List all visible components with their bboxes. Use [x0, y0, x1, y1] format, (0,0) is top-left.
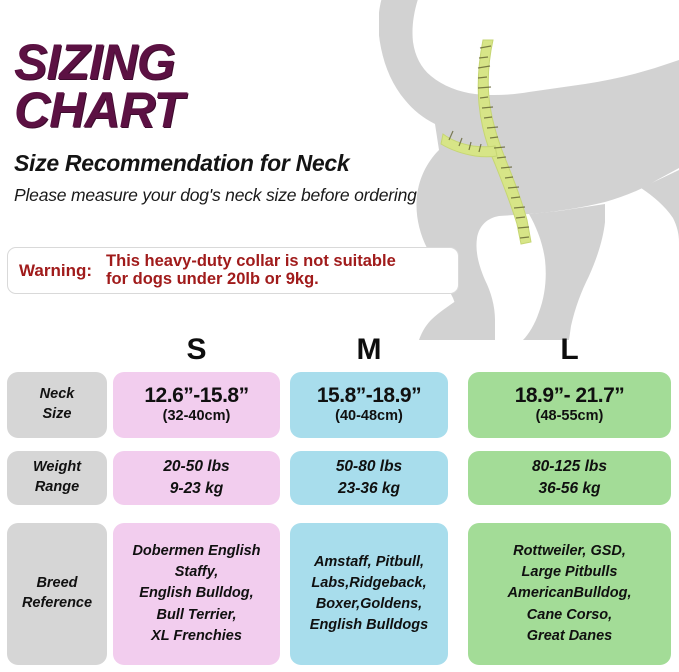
size-header-s: S — [113, 333, 280, 367]
breed-line: Cane Corso, — [527, 605, 612, 626]
cell-weight-range-m: 50-80 lbs 23-36 kg — [290, 451, 448, 505]
cell-breed-reference-m: Amstaff, Pitbull, Labs,Ridgeback, Boxer,… — [290, 523, 448, 665]
subtitle: Size Recommendation for Neck — [14, 150, 417, 177]
breed-line: English Bulldogs — [310, 615, 428, 636]
cell-breed-reference-l: Rottweiler, GSD, Large Pitbulls American… — [468, 523, 671, 665]
row-label-line-2: Reference — [22, 594, 92, 614]
size-header-m: M — [290, 333, 448, 367]
warning-label: Warning: — [8, 261, 92, 281]
instruction-text: Please measure your dog's neck size befo… — [14, 185, 417, 206]
warning-message: This heavy-duty collar is not suitable f… — [92, 253, 396, 289]
weight-lbs-l: 80-125 lbs — [532, 456, 607, 478]
row-label-line-2: Range — [35, 478, 79, 498]
neck-size-cm-m: (40-48cm) — [335, 408, 403, 425]
row-label-line-1: Neck — [40, 385, 75, 405]
neck-size-inches-s: 12.6”-15.8” — [144, 385, 248, 407]
breed-line: XL Frenchies — [151, 626, 242, 647]
header-block: SIZING CHART Size Recommendation for Nec… — [14, 38, 417, 206]
breed-line: Dobermen English — [132, 541, 260, 562]
row-label-line-1: Breed — [36, 574, 77, 594]
breed-line: Rottweiler, GSD, — [513, 541, 626, 562]
cell-neck-size-s: 12.6”-15.8” (32-40cm) — [113, 372, 280, 438]
neck-size-inches-m: 15.8”-18.9” — [317, 385, 421, 407]
page-title-line-2: CHART — [14, 86, 417, 134]
warning-message-line-2: for dogs under 20lb or 9kg. — [106, 271, 396, 289]
breed-line: Bull Terrier, — [156, 605, 236, 626]
row-label-breed-reference: Breed Reference — [7, 523, 107, 665]
breed-line: Staffy, — [175, 562, 219, 583]
cell-neck-size-m: 15.8”-18.9” (40-48cm) — [290, 372, 448, 438]
cell-weight-range-s: 20-50 lbs 9-23 kg — [113, 451, 280, 505]
row-label-line-2: Size — [42, 405, 71, 425]
weight-kg-s: 9-23 kg — [170, 478, 223, 500]
weight-lbs-m: 50-80 lbs — [336, 456, 402, 478]
row-label-neck-size: Neck Size — [7, 372, 107, 438]
weight-kg-l: 36-56 kg — [538, 478, 600, 500]
breed-line: Labs,Ridgeback, — [311, 573, 426, 594]
breed-line: Large Pitbulls — [522, 562, 618, 583]
warning-box: Warning: This heavy-duty collar is not s… — [7, 247, 459, 294]
weight-lbs-s: 20-50 lbs — [163, 456, 229, 478]
neck-size-cm-s: (32-40cm) — [163, 408, 231, 425]
breed-line: Amstaff, Pitbull, — [314, 552, 424, 573]
cell-weight-range-l: 80-125 lbs 36-56 kg — [468, 451, 671, 505]
neck-size-inches-l: 18.9”- 21.7” — [515, 385, 625, 407]
breed-line: Great Danes — [527, 626, 612, 647]
size-header-l: L — [468, 333, 671, 367]
cell-breed-reference-s: Dobermen English Staffy, English Bulldog… — [113, 523, 280, 665]
warning-message-line-1: This heavy-duty collar is not suitable — [106, 253, 396, 271]
row-label-line-1: Weight — [33, 458, 81, 478]
row-label-weight-range: Weight Range — [7, 451, 107, 505]
breed-line: Boxer,Goldens, — [316, 594, 422, 615]
cell-neck-size-l: 18.9”- 21.7” (48-55cm) — [468, 372, 671, 438]
neck-size-cm-l: (48-55cm) — [536, 408, 604, 425]
breed-line: English Bulldog, — [139, 583, 253, 604]
page-title-line-1: SIZING — [14, 38, 417, 86]
weight-kg-m: 23-36 kg — [338, 478, 400, 500]
breed-line: AmericanBulldog, — [507, 583, 631, 604]
